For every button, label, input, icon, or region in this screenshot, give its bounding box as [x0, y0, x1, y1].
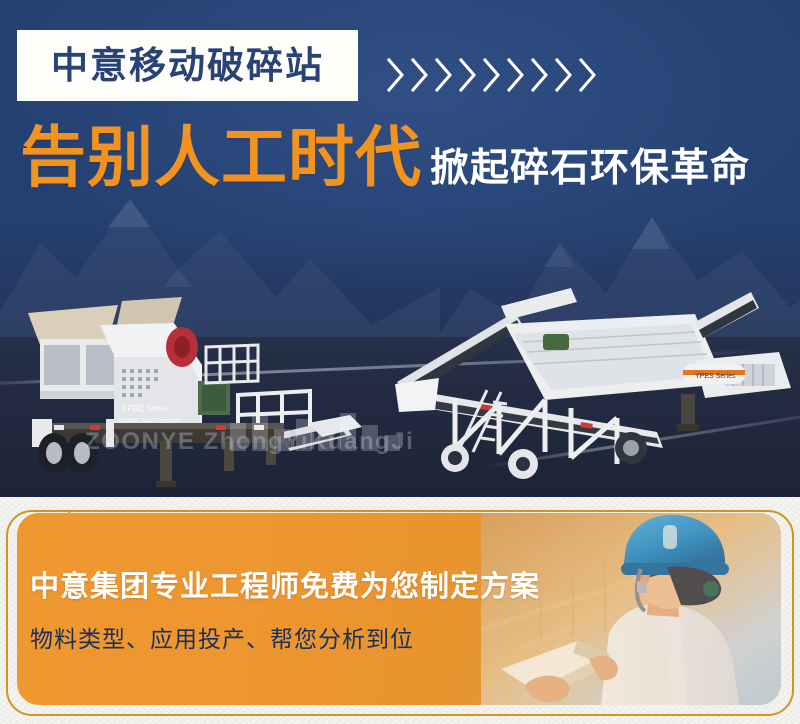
chevron-right-icon [433, 56, 455, 94]
machine-left-label-2: Mobile Jaw Crusher [118, 418, 181, 425]
mobile-screening-plant-illustration: YPES Series [395, 272, 795, 497]
chevron-right-icon [385, 56, 407, 94]
chevron-right-icon [409, 56, 431, 94]
jaw-crusher-icon: YPGE Series Mobile Jaw Crusher [10, 295, 410, 495]
hero-headline-sub: 掀起碎石环保革命 [430, 149, 750, 191]
machine-right-label: YPES Series [695, 373, 736, 380]
hero-section: YPGE Series Mobile Jaw Crusher [0, 0, 800, 497]
chevron-right-icon [505, 56, 527, 94]
watermark-text: ZOONYE ZhongYiKuangJi [85, 428, 414, 456]
chevron-right-icon [457, 56, 479, 94]
mobile-jaw-crusher-illustration: YPGE Series Mobile Jaw Crusher [10, 295, 410, 497]
hero-headline: 告别人工时代 掀起碎石环保革命 [20, 125, 750, 191]
chevron-right-icon [553, 56, 575, 94]
chevron-right-icon [481, 56, 503, 94]
promotional-banner: YPGE Series Mobile Jaw Crusher [0, 0, 800, 724]
promo-headline: 中意集团专业工程师免费为您制定方案 [30, 572, 540, 601]
hero-badge-label: 中意移动破碎站 [51, 47, 324, 84]
chevron-arrow-row [385, 56, 599, 94]
promo-subline: 物料类型、应用投产、帮您分析到位 [30, 629, 540, 652]
chevron-right-icon [577, 56, 599, 94]
hero-headline-main: 告别人工时代 [20, 125, 422, 191]
machine-left-label-1: YPGE Series [122, 404, 169, 413]
promo-text-block: 中意集团专业工程师免费为您制定方案 物料类型、应用投产、帮您分析到位 [30, 572, 540, 652]
hero-badge: 中意移动破碎站 [17, 30, 358, 101]
chevron-right-icon [529, 56, 551, 94]
screening-plant-icon: YPES Series [395, 272, 795, 497]
